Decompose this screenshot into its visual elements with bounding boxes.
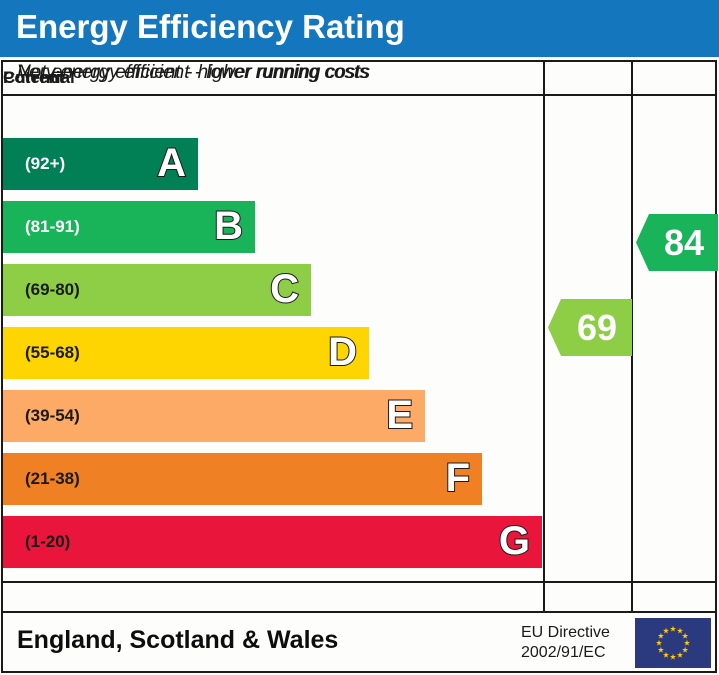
bottom-divider xyxy=(3,581,715,583)
band-list: (92+)A(81-91)B(69-80)C(55-68)D(39-54)E(2… xyxy=(3,138,543,581)
band-e: (39-54)E xyxy=(3,390,425,442)
band-range-b: (81-91) xyxy=(25,217,80,237)
band-letter-f: F xyxy=(446,458,470,498)
band-letter-e: E xyxy=(386,395,413,435)
directive-line-2: 2002/91/EC xyxy=(521,643,626,663)
band-letter-d: D xyxy=(328,332,357,372)
column-divider-current xyxy=(543,62,545,611)
band-d: (55-68)D xyxy=(3,327,369,379)
footer-region-label: England, Scotland & Wales xyxy=(17,626,338,655)
band-range-a: (92+) xyxy=(25,154,65,174)
rating-value-current: 69 xyxy=(563,310,617,346)
band-letter-b: B xyxy=(214,206,243,246)
band-letter-c: C xyxy=(270,269,299,309)
band-a: (92+)A xyxy=(3,138,198,190)
directive-line-1: EU Directive xyxy=(521,623,626,643)
band-g: (1-20)G xyxy=(3,516,542,568)
footer-bar: England, Scotland & Wales EU Directive 2… xyxy=(1,613,717,673)
band-letter-g: G xyxy=(499,521,530,561)
page-title: Energy Efficiency Rating xyxy=(16,8,405,46)
rating-arrow-current: 69 xyxy=(548,299,632,356)
band-c: (69-80)C xyxy=(3,264,311,316)
band-range-e: (39-54) xyxy=(25,406,80,426)
footer-directive: EU Directive 2002/91/EC xyxy=(521,623,626,663)
rating-table: Current Potential Very energy efficient … xyxy=(1,60,717,613)
band-range-c: (69-80) xyxy=(25,280,80,300)
eu-flag-icon xyxy=(635,618,711,668)
rating-value-potential: 84 xyxy=(650,225,704,261)
band-letter-a: A xyxy=(157,143,186,183)
band-b: (81-91)B xyxy=(3,201,255,253)
band-range-f: (21-38) xyxy=(25,469,80,489)
band-range-d: (55-68) xyxy=(25,343,80,363)
band-f: (21-38)F xyxy=(3,453,482,505)
rating-arrow-potential: 84 xyxy=(636,214,718,271)
title-bar: Energy Efficiency Rating xyxy=(0,0,719,57)
caption-inefficient: Not energy efficient - higher running co… xyxy=(17,62,369,84)
eu-flag-svg xyxy=(635,618,711,668)
energy-efficiency-rating-chart: Energy Efficiency Rating Current Potenti… xyxy=(0,0,719,675)
band-range-g: (1-20) xyxy=(25,532,70,552)
